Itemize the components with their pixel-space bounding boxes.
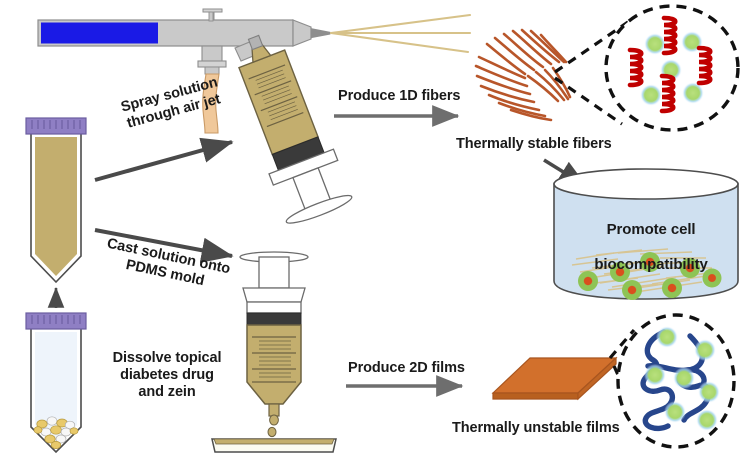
arrow-spray — [95, 142, 232, 180]
label-promote-biocompatibility: Promote cell biocompatibility — [572, 203, 722, 274]
film-sheet — [493, 358, 616, 399]
label-dissolve: Dissolve topical diabetes drug and zein — [92, 350, 242, 401]
droplets — [268, 415, 278, 437]
biocompat-line-1: Promote cell — [607, 221, 696, 238]
solution-vial — [26, 118, 86, 282]
petri-dish — [212, 439, 336, 452]
fiber-mat — [476, 30, 570, 120]
label-thermally-unstable-films: Thermally unstable films — [452, 420, 620, 437]
biocompat-line-2: biocompatibility — [594, 256, 707, 273]
label-produce-1d: Produce 1D fibers — [338, 88, 460, 105]
vertical-syringe — [240, 252, 308, 437]
label-produce-2d: Produce 2D films — [348, 360, 465, 377]
label-thermally-stable-fibers: Thermally stable fibers — [456, 136, 612, 153]
figure-canvas: Dissolve topical diabetes drug and zein … — [0, 0, 746, 459]
powder-particles — [34, 417, 78, 449]
powder-vial — [26, 313, 86, 452]
